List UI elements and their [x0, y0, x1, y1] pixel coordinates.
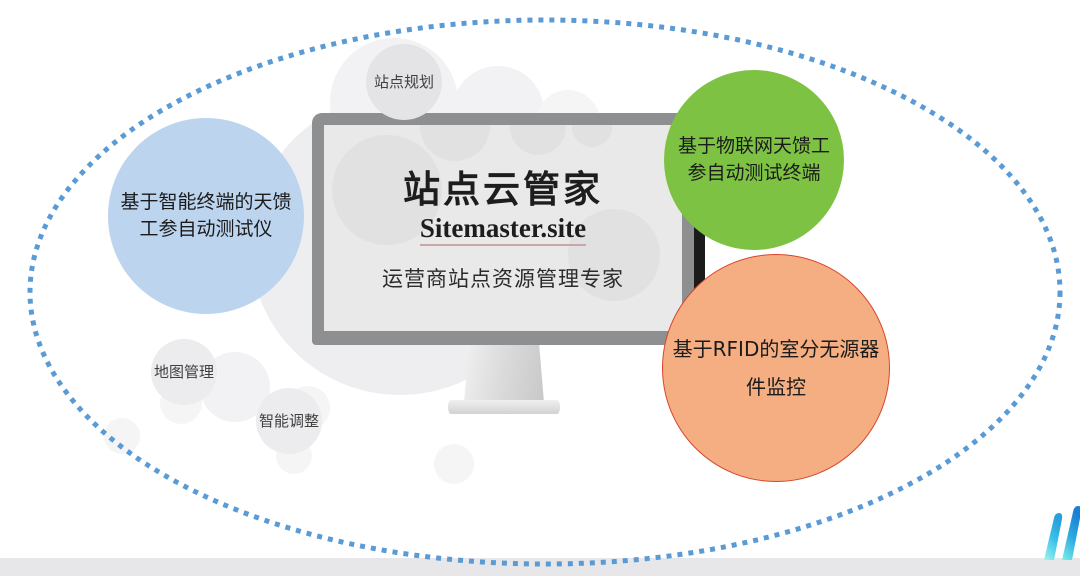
monitor-frame: 站点云管家 Sitemaster.site 运营商站点资源管理专家 [312, 113, 694, 345]
keyword-site-planning[interactable]: 站点规划 [366, 44, 442, 120]
bottom-strip [0, 558, 1080, 576]
slide-canvas: 站点云管家 Sitemaster.site 运营商站点资源管理专家 基于智能终端… [0, 0, 1080, 576]
screen-content: 站点云管家 Sitemaster.site 运营商站点资源管理专家 [324, 125, 682, 331]
keyword-smart-adjustment-label: 智能调整 [259, 411, 319, 432]
concept-circle-orange-label: 基于RFID的室分无源器件监控 [663, 330, 889, 406]
logo-stroke-left [1044, 513, 1062, 560]
monitor-screen: 站点云管家 Sitemaster.site 运营商站点资源管理专家 [324, 125, 682, 331]
concept-circle-green-label: 基于物联网天馈工参自动测试终端 [664, 133, 844, 187]
keyword-map-management[interactable]: 地图管理 [151, 339, 217, 405]
product-subtitle: 运营商站点资源管理专家 [382, 268, 624, 291]
monitor-stand [312, 345, 694, 455]
decor-bubble-small-b [104, 418, 140, 454]
concept-circle-orange[interactable]: 基于RFID的室分无源器件监控 [662, 254, 890, 482]
monitor-base [448, 400, 560, 414]
logo-stroke-right [1062, 506, 1080, 560]
concept-circle-blue[interactable]: 基于智能终端的天馈工参自动测试仪 [108, 118, 304, 314]
concept-circle-green[interactable]: 基于物联网天馈工参自动测试终端 [664, 70, 844, 250]
product-title-en: Sitemaster.site [420, 214, 586, 247]
brand-logo-icon [1030, 498, 1080, 560]
keyword-site-planning-label: 站点规划 [374, 72, 434, 93]
product-title-cn: 站点云管家 [403, 171, 603, 210]
monitor-neck [464, 345, 544, 403]
concept-circle-blue-label: 基于智能终端的天馈工参自动测试仪 [108, 189, 304, 243]
keyword-map-management-label: 地图管理 [154, 362, 214, 383]
keyword-smart-adjustment[interactable]: 智能调整 [256, 388, 322, 454]
